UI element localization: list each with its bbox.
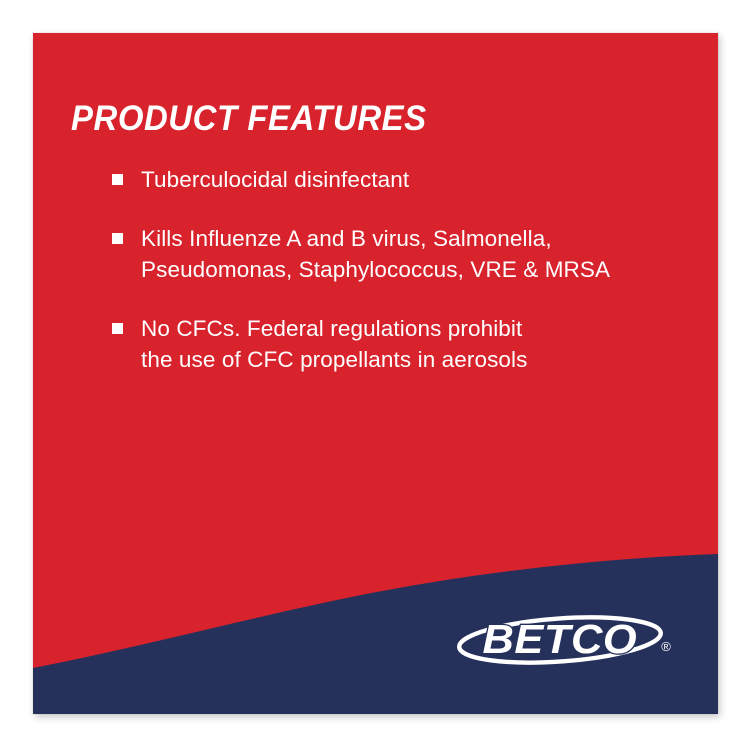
- square-bullet-icon: [112, 233, 123, 244]
- page-title: PRODUCT FEATURES: [71, 101, 427, 136]
- list-item: Tuberculocidal disinfectant: [112, 164, 712, 195]
- product-feature-graphic: PRODUCT FEATURES Tuberculocidal disinfec…: [0, 0, 750, 750]
- feature-line: No CFCs. Federal regulations prohibit: [141, 313, 712, 344]
- betco-logo: BETCO ®: [456, 611, 678, 669]
- list-item: Kills Influenze A and B virus, Salmonell…: [112, 223, 712, 285]
- red-feature-card: PRODUCT FEATURES Tuberculocidal disinfec…: [33, 33, 718, 714]
- registered-trademark-icon: ®: [661, 639, 671, 654]
- product-features-list: Tuberculocidal disinfectant Kills Influe…: [112, 164, 712, 375]
- feature-line: Pseudomonas, Staphylococcus, VRE & MRSA: [141, 254, 712, 285]
- feature-line: Tuberculocidal disinfectant: [141, 164, 712, 195]
- feature-line: Kills Influenze A and B virus, Salmonell…: [141, 223, 712, 254]
- betco-wordmark: BETCO: [483, 616, 638, 662]
- square-bullet-icon: [112, 323, 123, 334]
- feature-line: the use of CFC propellants in aerosols: [141, 344, 712, 375]
- square-bullet-icon: [112, 174, 123, 185]
- betco-logo-svg: BETCO ®: [456, 611, 678, 669]
- list-item: No CFCs. Federal regulations prohibit th…: [112, 313, 712, 375]
